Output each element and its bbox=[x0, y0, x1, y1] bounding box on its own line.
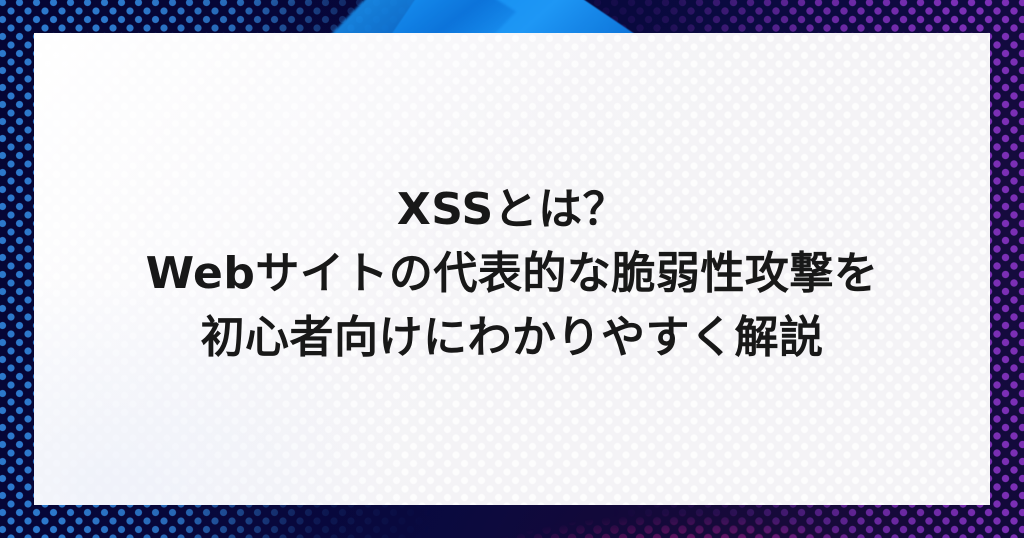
headline-line-3: 初心者向けにわかりやすく解説 bbox=[201, 306, 824, 370]
eyecatch-canvas: XSSとは？ Webサイトの代表的な脆弱性攻撃を 初心者向けにわかりやすく解説 bbox=[0, 0, 1024, 538]
content-card: XSSとは？ Webサイトの代表的な脆弱性攻撃を 初心者向けにわかりやすく解説 bbox=[34, 33, 990, 505]
page-title: XSSとは？ Webサイトの代表的な脆弱性攻撃を 初心者向けにわかりやすく解説 bbox=[34, 33, 990, 505]
headline-line-2: Webサイトの代表的な脆弱性攻撃を bbox=[146, 242, 879, 306]
headline-line-1: XSSとは？ bbox=[397, 178, 627, 242]
